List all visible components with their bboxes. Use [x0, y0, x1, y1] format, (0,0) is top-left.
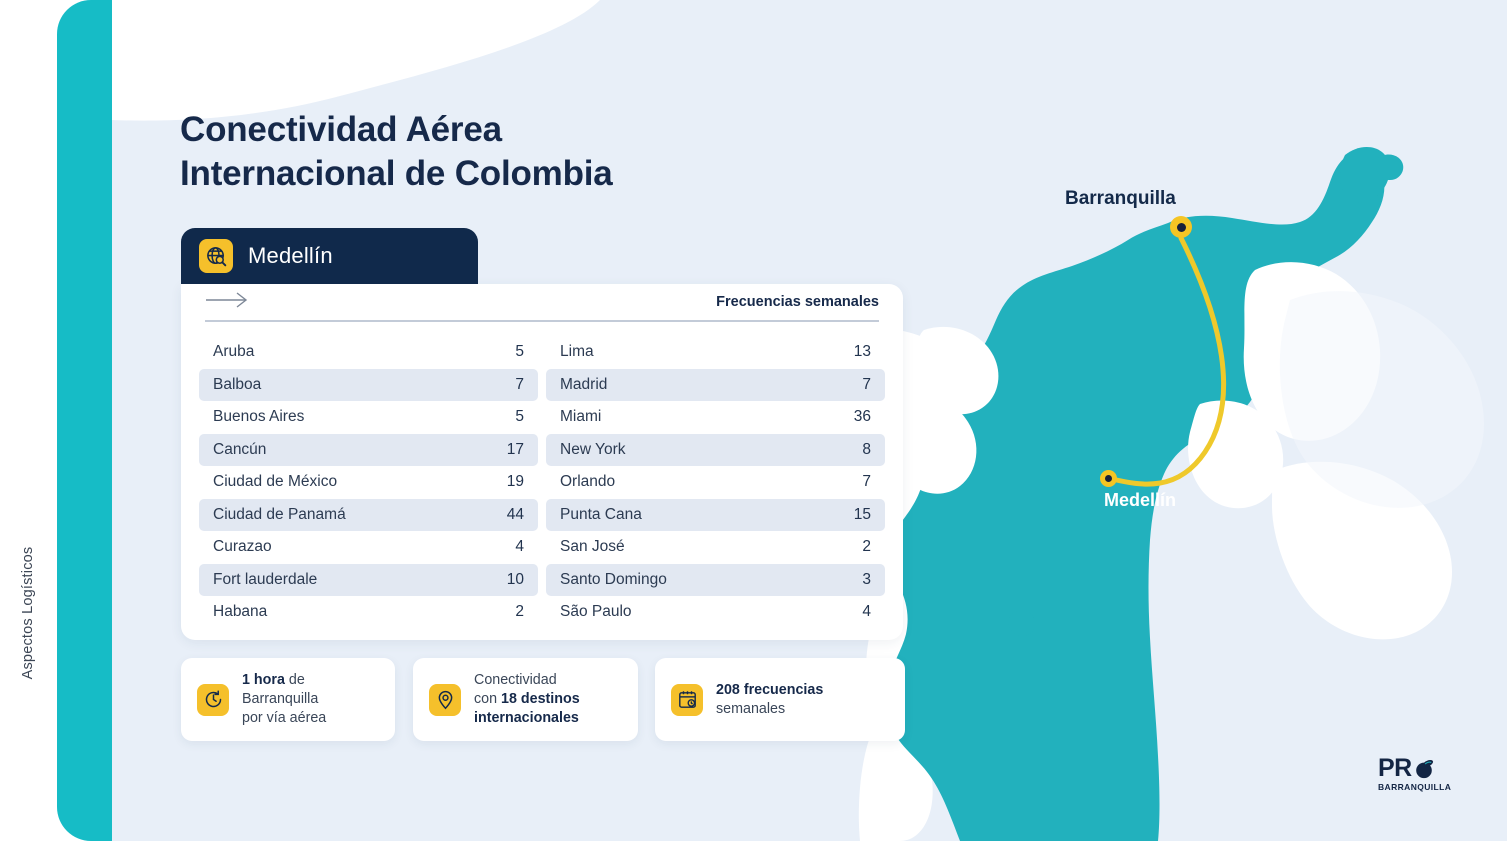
table-row: Lima13: [546, 336, 885, 369]
pin-medellin[interactable]: [1100, 470, 1117, 487]
destination-frequency: 13: [854, 343, 871, 361]
destination-name: Balboa: [213, 376, 261, 394]
destination-name: Ciudad de México: [213, 473, 337, 491]
table-row: Habana2: [199, 596, 538, 629]
table-columns: Aruba5Balboa7Buenos Aires5Cancún17Ciudad…: [181, 322, 903, 629]
info-card-destinations-text: Conectividad con 18 destinos internacion…: [474, 671, 580, 728]
map-pin-icon: [429, 684, 461, 716]
destination-name: Orlando: [560, 473, 615, 491]
table-row: São Paulo4: [546, 596, 885, 629]
info-card-travel-time-text: 1 hora de Barranquilla por vía aérea: [242, 671, 326, 728]
info-2-line1: Conectividad: [474, 672, 557, 688]
globe-search-icon: [199, 239, 233, 273]
destination-name: Lima: [560, 343, 594, 361]
logo-mark-icon: [1413, 758, 1435, 780]
table-header-label: Frecuencias semanales: [716, 294, 879, 310]
city-badge-label: Medellín: [248, 243, 333, 269]
destination-frequency: 3: [862, 571, 871, 589]
destination-frequency: 8: [862, 441, 871, 459]
pro-barranquilla-logo: PR BARRANQUILLA: [1378, 757, 1451, 792]
table-row: Orlando7: [546, 466, 885, 499]
info-1-line2: Barranquilla: [242, 691, 318, 707]
info-1-strong: 1 hora: [242, 672, 285, 688]
page-title-line1: Conectividad Aérea: [180, 108, 613, 152]
destination-name: Cancún: [213, 441, 266, 459]
destination-name: Santo Domingo: [560, 571, 667, 589]
logo-subtitle: BARRANQUILLA: [1378, 782, 1451, 792]
logo-main-text: PR: [1378, 757, 1412, 781]
destination-name: Aruba: [213, 343, 254, 361]
destination-name: Madrid: [560, 376, 607, 394]
destination-frequency: 17: [507, 441, 524, 459]
destination-frequency: 15: [854, 506, 871, 524]
table-row: Buenos Aires5: [199, 401, 538, 434]
table-row: Cancún17: [199, 434, 538, 467]
info-3-line2: semanales: [716, 701, 785, 717]
calendar-clock-icon: [671, 684, 703, 716]
info-2-strong2: internacionales: [474, 710, 579, 726]
table-row: New York8: [546, 434, 885, 467]
city-label-medellin: Medellín: [1104, 490, 1176, 511]
destination-name: Habana: [213, 603, 267, 621]
destination-frequency: 7: [515, 376, 524, 394]
info-3-strong: 208 frecuencias: [716, 682, 823, 698]
destination-frequency: 7: [862, 376, 871, 394]
info-1-line3: por vía aérea: [242, 710, 326, 726]
info-2-strong: 18 destinos: [501, 691, 580, 707]
page-title: Conectividad Aérea Internacional de Colo…: [180, 108, 613, 197]
table-row: Ciudad de Panamá44: [199, 499, 538, 532]
destination-frequency: 4: [862, 603, 871, 621]
info-card-travel-time: 1 hora de Barranquilla por vía aérea: [181, 658, 395, 741]
destination-frequency: 10: [507, 571, 524, 589]
frequencies-table-card: Frecuencias semanales Aruba5Balboa7Bueno…: [181, 284, 903, 640]
table-row: Aruba5: [199, 336, 538, 369]
logo-wordmark: PR: [1378, 757, 1451, 781]
table-row: Santo Domingo3: [546, 564, 885, 597]
destination-name: Miami: [560, 408, 601, 426]
destination-frequency: 44: [507, 506, 524, 524]
destination-frequency: 19: [507, 473, 524, 491]
table-row: San José2: [546, 531, 885, 564]
table-row: Fort lauderdale10: [199, 564, 538, 597]
destination-name: São Paulo: [560, 603, 632, 621]
destination-name: Ciudad de Panamá: [213, 506, 346, 524]
left-accent-bar: [57, 0, 112, 841]
destination-name: Fort lauderdale: [213, 571, 317, 589]
info-card-destinations: Conectividad con 18 destinos internacion…: [413, 658, 638, 741]
destination-frequency: 7: [862, 473, 871, 491]
table-column-right: Lima13Madrid7Miami36New York8Orlando7Pun…: [546, 336, 885, 629]
city-label-barranquilla: Barranquilla: [1065, 188, 1176, 210]
destination-frequency: 5: [515, 408, 524, 426]
table-column-left: Aruba5Balboa7Buenos Aires5Cancún17Ciudad…: [199, 336, 538, 629]
arrow-right-icon: [205, 292, 249, 313]
city-badge[interactable]: Medellín: [181, 228, 478, 284]
pin-barranquilla[interactable]: [1170, 216, 1192, 238]
destination-name: San José: [560, 538, 625, 556]
info-2-prefix: con: [474, 691, 501, 707]
destination-name: New York: [560, 441, 625, 459]
table-header: Frecuencias semanales: [205, 284, 879, 322]
destination-name: Buenos Aires: [213, 408, 304, 426]
section-label: Aspectos Logísticos: [20, 523, 36, 703]
destination-name: Punta Cana: [560, 506, 642, 524]
destination-frequency: 2: [515, 603, 524, 621]
infographic-slide: Barranquilla Medellín Aspectos Logístico…: [0, 0, 1507, 841]
table-row: Curazao4: [199, 531, 538, 564]
table-row: Punta Cana15: [546, 499, 885, 532]
destination-name: Curazao: [213, 538, 272, 556]
table-row: Miami36: [546, 401, 885, 434]
destination-frequency: 36: [854, 408, 871, 426]
info-card-frequencies: 208 frecuencias semanales: [655, 658, 905, 741]
table-row: Ciudad de México19: [199, 466, 538, 499]
destination-frequency: 2: [862, 538, 871, 556]
page-title-line2: Internacional de Colombia: [180, 152, 613, 196]
info-1-text1: de: [285, 672, 305, 688]
clock-arrow-icon: [197, 684, 229, 716]
destination-frequency: 4: [515, 538, 524, 556]
info-card-frequencies-text: 208 frecuencias semanales: [716, 681, 823, 719]
destination-frequency: 5: [515, 343, 524, 361]
table-row: Balboa7: [199, 369, 538, 402]
table-row: Madrid7: [546, 369, 885, 402]
